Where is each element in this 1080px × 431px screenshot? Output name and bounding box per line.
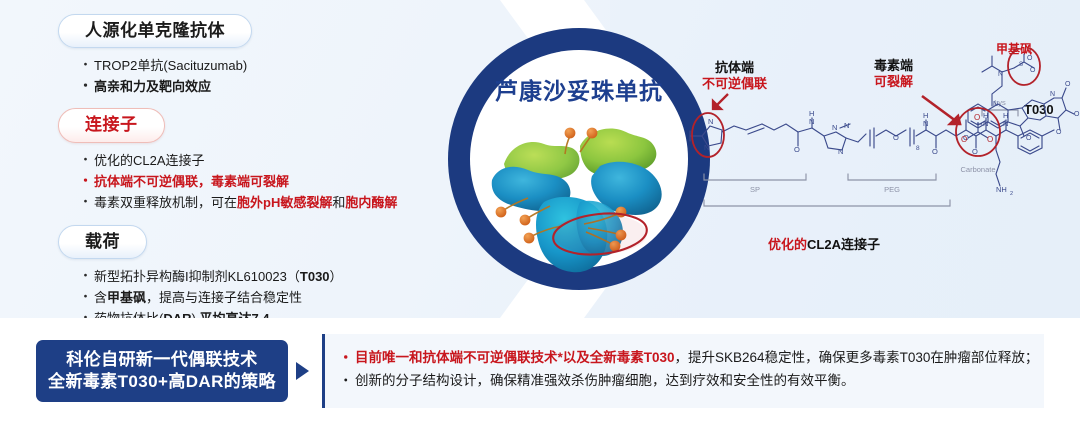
drug-name-label: 芦康沙妥珠单抗 <box>448 72 710 106</box>
svg-text:N: N <box>998 71 1003 78</box>
list-item: 创新的分子结构设计，确保精准强效杀伤肿瘤细胞，达到疗效和安全性的有效平衡。 <box>341 369 1044 392</box>
svg-text:O: O <box>961 135 967 144</box>
chem-panel-caption: 优化的CL2A连接子 <box>768 234 880 253</box>
bracket-label-peg: PEG <box>884 185 900 194</box>
bullet-text: 新型拓扑异构酶I抑制剂KL610023（ <box>94 269 300 284</box>
bullet-text: 含 <box>94 290 107 305</box>
svg-text:O: O <box>1065 81 1071 88</box>
bullet-text: ，提高与连接子结合稳定性 <box>146 290 302 305</box>
bullet-text-strong: DAR <box>163 311 191 318</box>
bullet-list-antibody: TROP2单抗(Sacituzumab) 高亲和力及靶向效应 <box>80 55 428 97</box>
list-item: 含甲基砜，提高与连接子结合稳定性 <box>80 287 428 308</box>
list-item: 药物抗体比(DAR) 平均高达7.4 <box>80 308 428 318</box>
list-item: 高亲和力及靶向效应 <box>80 76 428 97</box>
triangle-right-icon <box>296 362 309 380</box>
left-info-column: 人源化单克隆抗体 TROP2单抗(Sacituzumab) 高亲和力及靶向效应 … <box>58 14 428 318</box>
svg-text:O: O <box>1027 55 1033 62</box>
section-payload: 载荷 新型拓扑异构酶I抑制剂KL610023（T030） 含甲基砜，提高与连接子… <box>58 225 428 318</box>
list-item: 抗体端不可逆偶联，毒素端可裂解 <box>80 171 428 192</box>
svg-text:O: O <box>974 113 980 122</box>
label-antibody-side: 抗体端 不可逆偶联 <box>702 60 767 92</box>
svg-text:N: N <box>708 117 713 126</box>
svg-text:N: N <box>704 143 709 152</box>
svg-text:N: N <box>844 121 849 130</box>
center-circle: 芦康沙妥珠单抗 <box>448 28 710 290</box>
strategy-tag-line2: 全新毒素T030+高DAR的策略 <box>48 371 276 393</box>
bottom-panel: 科伦自研新一代偶联技术 全新毒素T030+高DAR的策略 目前唯一和抗体端不可逆… <box>0 326 1080 431</box>
bullet-text: 优化的CL2A连接子 <box>94 153 205 168</box>
bullet-text: 和 <box>332 195 345 210</box>
summary-text: ，提升SKB264稳定性，确保更多毒素T030在肿瘤部位释放； <box>675 350 1039 365</box>
label-toxin-side-line1: 毒素端 <box>874 58 913 74</box>
strategy-tag: 科伦自研新一代偶联技术 全新毒素T030+高DAR的策略 <box>36 340 288 402</box>
bullet-text-highlight: 胞外pH敏感裂解 <box>237 195 332 210</box>
label-toxin-side: 毒素端 可裂解 <box>874 58 913 90</box>
carbonate-highlight-diagram: OOO Carbonate <box>908 94 1058 204</box>
caption-text: CL2A连接子 <box>807 237 880 252</box>
bullet-text-strong: 甲基砜 <box>107 290 146 305</box>
svg-text:S: S <box>1019 62 1023 68</box>
summary-box: 目前唯一和抗体端不可逆偶联技术*以及全新毒素T030，提升SKB264稳定性，确… <box>322 334 1044 408</box>
bullet-text: 抗体端不可逆偶联，毒素端可裂解 <box>94 174 289 189</box>
section-linker: 连接子 优化的CL2A连接子 抗体端不可逆偶联，毒素端可裂解 毒素双重释放机制，… <box>58 108 428 212</box>
summary-highlight: 目前唯一和抗体端不可逆偶联技术*以及全新毒素T030 <box>355 350 675 365</box>
bracket-label-carbonate: Carbonate <box>960 165 995 174</box>
bullet-list-payload: 新型拓扑异构酶I抑制剂KL610023（T030） 含甲基砜，提高与连接子结合稳… <box>80 266 428 318</box>
list-item: TROP2单抗(Sacituzumab) <box>80 55 428 76</box>
list-item: 新型拓扑异构酶I抑制剂KL610023（T030） <box>80 266 428 287</box>
bullet-text: 药物抗体比( <box>94 311 163 318</box>
bracket-label-sp: SP <box>750 185 760 194</box>
bullet-text: ） <box>330 269 343 284</box>
chemistry-panel: 抗体端 不可逆偶联 毒素端 可裂解 甲基砜 T030 <box>688 44 1072 264</box>
bullet-text-strong: T030 <box>300 269 330 284</box>
section-title-payload: 载荷 <box>58 225 147 259</box>
svg-text:O: O <box>1030 67 1036 74</box>
bullet-list-linker: 优化的CL2A连接子 抗体端不可逆偶联，毒素端可裂解 毒素双重释放机制，可在胞外… <box>80 150 428 213</box>
list-item: 优化的CL2A连接子 <box>80 150 428 171</box>
list-item: 目前唯一和抗体端不可逆偶联技术*以及全新毒素T030，提升SKB264稳定性，确… <box>341 346 1044 369</box>
section-antibody: 人源化单克隆抗体 TROP2单抗(Sacituzumab) 高亲和力及靶向效应 <box>58 14 428 97</box>
svg-text:N: N <box>838 147 843 156</box>
list-item: 毒素双重释放机制，可在胞外pH敏感裂解和胞内酶解 <box>80 192 428 213</box>
section-title-antibody: 人源化单克隆抗体 <box>58 14 252 48</box>
summary-text: 创新的分子结构设计，确保精准强效杀伤肿瘤细胞，达到疗效和安全性的有效平衡。 <box>355 373 855 388</box>
svg-text:N: N <box>809 117 814 126</box>
bullet-text: 高亲和力及靶向效应 <box>94 79 211 94</box>
svg-text:O: O <box>893 133 899 142</box>
svg-text:O: O <box>794 145 800 154</box>
antibody-protein-structure-icon <box>488 106 670 278</box>
infographic-page: 人源化单克隆抗体 TROP2单抗(Sacituzumab) 高亲和力及靶向效应 … <box>0 0 1080 431</box>
svg-text:O: O <box>987 135 993 144</box>
label-antibody-side-line1: 抗体端 <box>702 60 767 76</box>
strategy-tag-line1: 科伦自研新一代偶联技术 <box>66 349 257 371</box>
bullet-text: TROP2单抗(Sacituzumab) <box>94 58 247 73</box>
svg-text:N: N <box>832 123 837 132</box>
bullet-text: 毒素双重释放机制，可在 <box>94 195 237 210</box>
bullet-text-strong: 平均高达7.4 <box>199 311 269 318</box>
top-panel: 人源化单克隆抗体 TROP2单抗(Sacituzumab) 高亲和力及靶向效应 … <box>0 0 1080 318</box>
section-title-linker: 连接子 <box>58 108 165 142</box>
bullet-text-highlight: 胞内酶解 <box>345 195 397 210</box>
svg-text:O: O <box>1074 111 1080 118</box>
caption-highlight: 优化的 <box>768 237 807 252</box>
